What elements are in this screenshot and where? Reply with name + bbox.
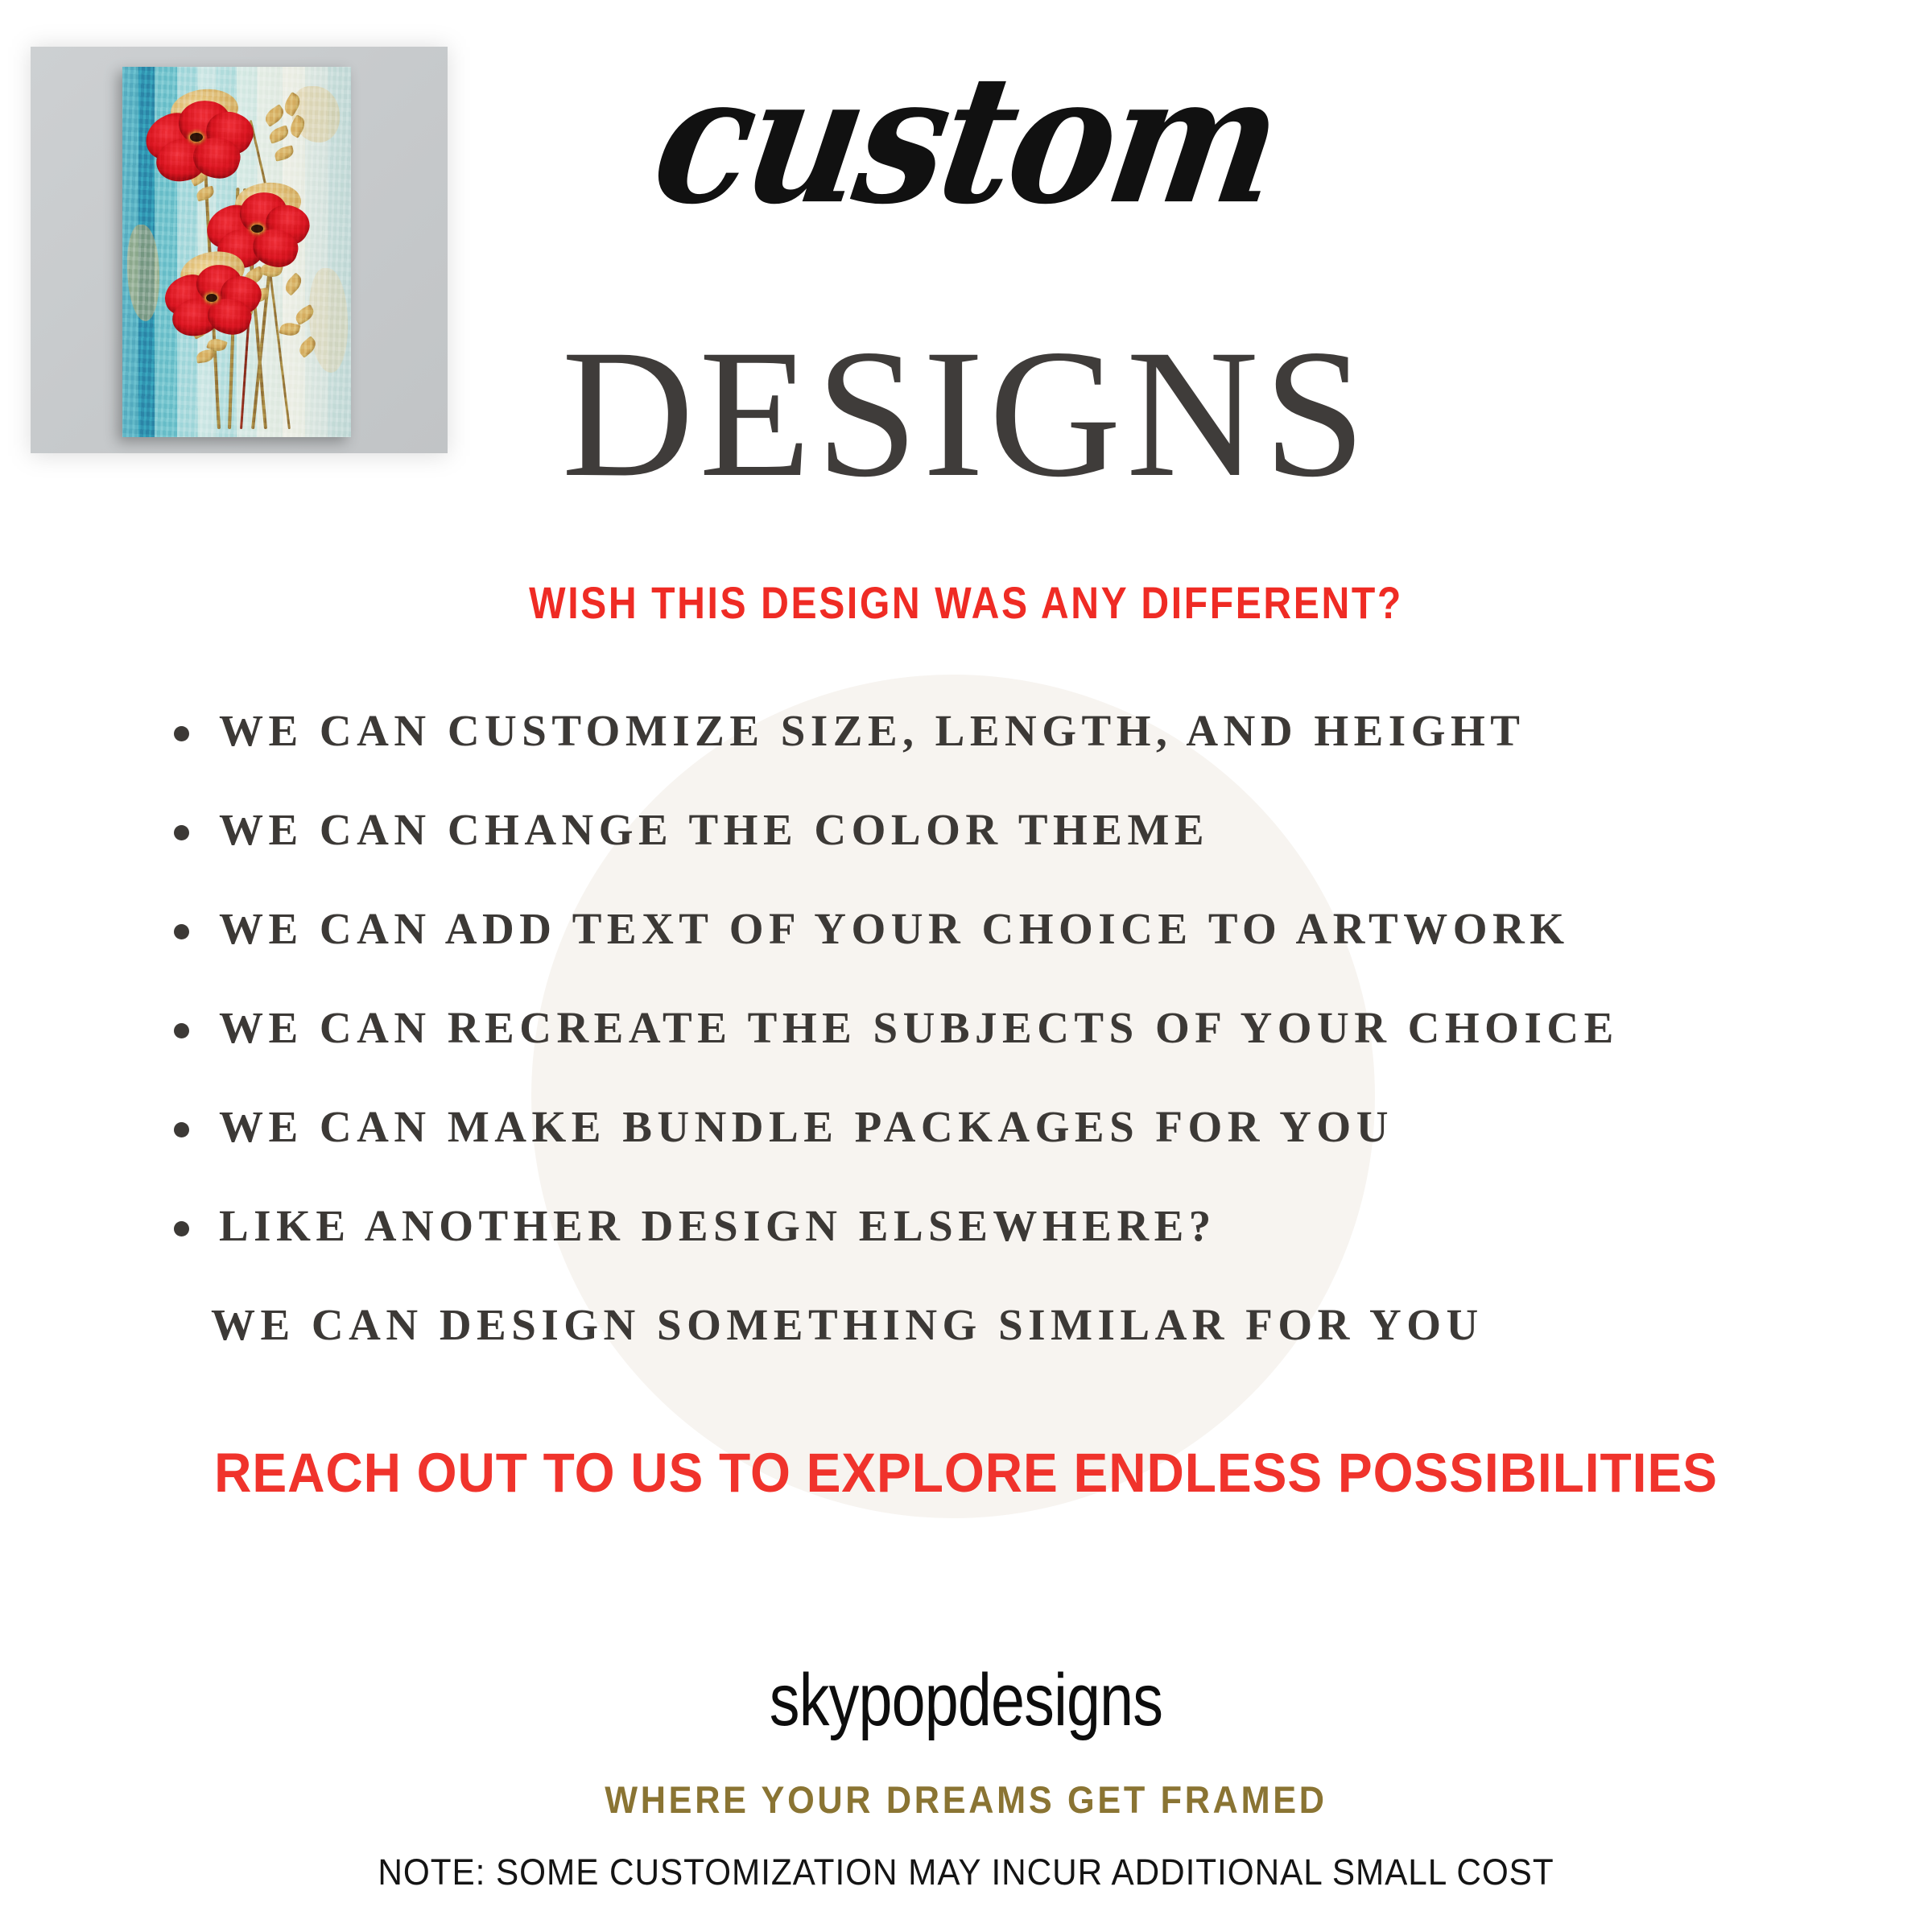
infographic-canvas: custom DESIGNS WISH THIS DESIGN WAS ANY …: [0, 0, 1932, 1932]
feature-label: LIKE ANOTHER DESIGN ELSEWHERE?: [219, 1201, 1216, 1250]
list-item: WE CAN RECREATE THE SUBJECTS OF YOUR CHO…: [0, 1005, 1932, 1068]
disclaimer-note: NOTE: SOME CUSTOMIZATION MAY INCUR ADDIT…: [58, 1851, 1874, 1893]
list-item: WE CAN CHANGE THE COLOR THEME: [0, 807, 1932, 870]
headline-script-word: custom: [0, 52, 1932, 229]
feature-label: WE CAN CHANGE THE COLOR THEME: [219, 805, 1209, 854]
bullet-dot-icon: [174, 924, 189, 939]
list-item: WE CAN ADD TEXT OF YOUR CHOICE TO ARTWOR…: [0, 906, 1932, 969]
bullet-dot-icon: [174, 825, 189, 840]
bullet-dot-icon: [174, 726, 189, 741]
bullet-dot-icon: [174, 1023, 189, 1038]
call-to-action-text[interactable]: REACH OUT TO US TO EXPLORE ENDLESS POSSI…: [68, 1441, 1864, 1505]
feature-list: WE CAN CUSTOMIZE SIZE, LENGTH, AND HEIGH…: [0, 708, 1932, 1402]
feature-label: WE CAN DESIGN SOMETHING SIMILAR FOR YOU: [211, 1300, 1484, 1349]
bullet-dot-icon: [174, 1221, 189, 1236]
page-title: DESIGNS: [0, 322, 1932, 506]
feature-label: WE CAN ADD TEXT OF YOUR CHOICE TO ARTWOR…: [219, 904, 1570, 953]
bullet-dot-icon: [174, 1122, 189, 1137]
list-item-continuation: WE CAN DESIGN SOMETHING SIMILAR FOR YOU: [0, 1302, 1932, 1365]
list-item: WE CAN MAKE BUNDLE PACKAGES FOR YOU: [0, 1104, 1932, 1167]
feature-label: WE CAN MAKE BUNDLE PACKAGES FOR YOU: [219, 1102, 1393, 1151]
brand-logo-text: skypopdesigns: [174, 1658, 1758, 1743]
feature-label: WE CAN CUSTOMIZE SIZE, LENGTH, AND HEIGH…: [219, 706, 1525, 755]
feature-label: WE CAN RECREATE THE SUBJECTS OF YOUR CHO…: [219, 1003, 1619, 1052]
list-item: LIKE ANOTHER DESIGN ELSEWHERE?: [0, 1203, 1932, 1266]
headline-subtitle: WISH THIS DESIGN WAS ANY DIFFERENT?: [135, 576, 1797, 629]
brand-tagline: WHERE YOUR DREAMS GET FRAMED: [77, 1777, 1855, 1822]
list-item: WE CAN CUSTOMIZE SIZE, LENGTH, AND HEIGH…: [0, 708, 1932, 771]
